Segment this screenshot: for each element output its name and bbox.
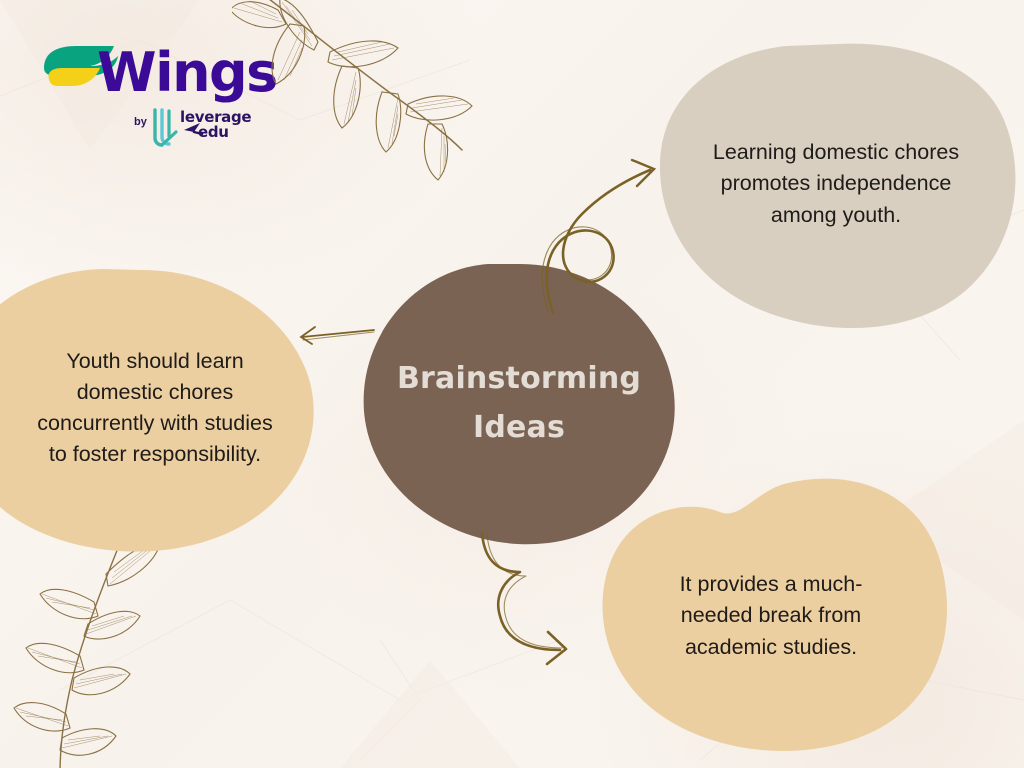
idea-node-top-right-label: Learning domestic chores promotes indepe… <box>686 137 986 231</box>
logo-by-label: by <box>134 116 147 128</box>
wings-by-leverage-edu-logo[interactable]: Wings by leverage edu <box>22 24 242 136</box>
infographic-canvas: Wings by leverage edu <box>0 0 1024 768</box>
connector-wavy-arrow <box>482 533 566 664</box>
idea-node-bottom-right-label: It provides a much-needed break from aca… <box>651 559 891 663</box>
idea-node-left[interactable]: Youth should learn domestic chores concu… <box>0 266 326 552</box>
botanical-leaf-sprig-bottom-icon <box>0 548 214 768</box>
central-topic-node[interactable]: Brainstorming Ideas <box>360 262 678 546</box>
logo-wordmark: Wings <box>97 46 277 100</box>
leverage-edu-arrow-icon <box>182 120 206 136</box>
central-topic-label: Brainstorming Ideas <box>397 355 641 452</box>
leverage-edu-bookmark-icon <box>150 108 184 148</box>
idea-node-left-label: Youth should learn domestic chores concu… <box>11 346 281 473</box>
idea-node-top-right[interactable]: Learning domestic chores promotes indepe… <box>652 36 1020 332</box>
